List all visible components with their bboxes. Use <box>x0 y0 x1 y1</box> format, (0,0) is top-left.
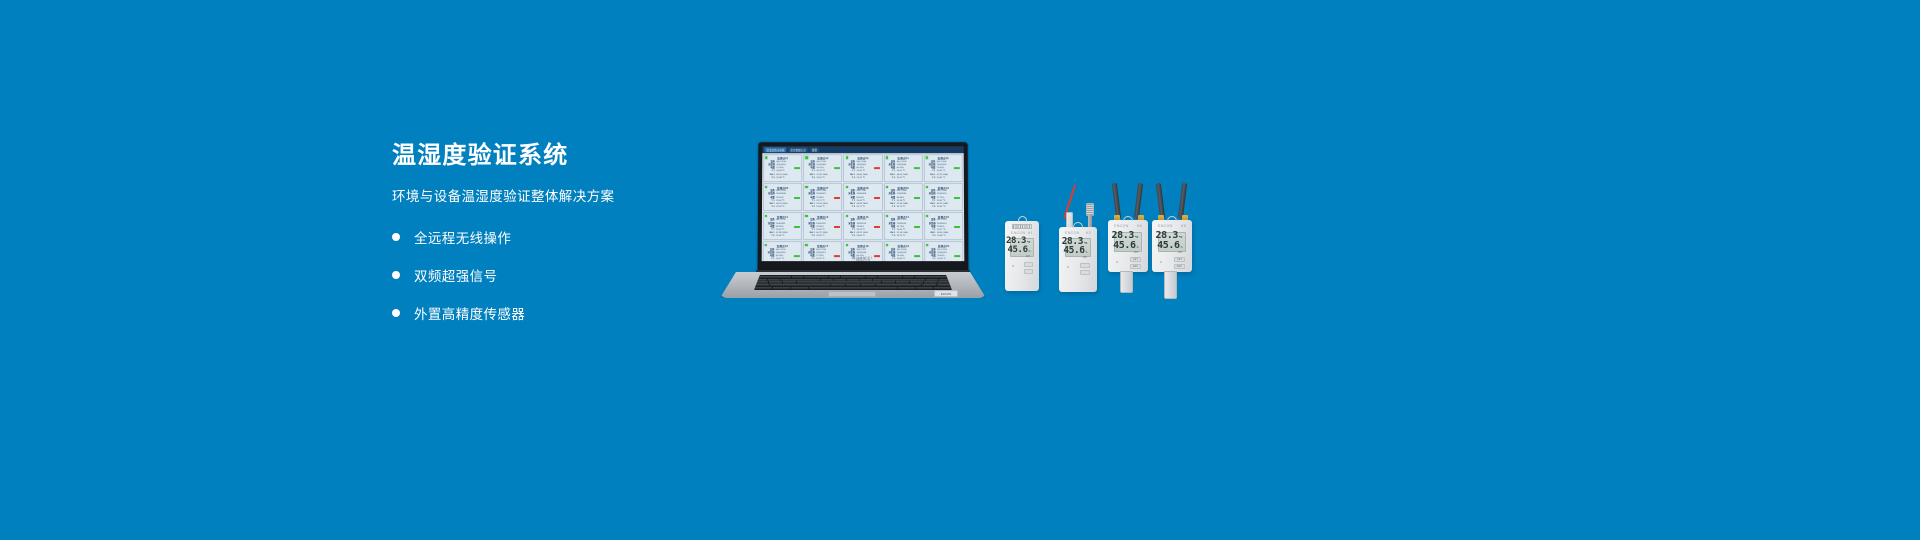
keyboard-key[interactable] <box>898 287 915 289</box>
card-title: 监测点03 <box>846 157 880 161</box>
card-title: 监测点09 <box>886 186 920 190</box>
keyboard-key[interactable] <box>773 287 790 289</box>
keyboard-key[interactable] <box>844 287 861 289</box>
temperature-unit: ℃ <box>1027 241 1030 244</box>
card-field-value: 23.88 ℃ <box>776 177 799 180</box>
keyboard-row <box>755 287 951 289</box>
monitoring-card[interactable]: 监测点04设备SN-77103采集器11002004电量81.00%T 123.… <box>884 154 923 182</box>
brand-left-label: ENCON <box>1065 231 1079 235</box>
card-status-pill <box>954 197 960 199</box>
card-status-pill <box>874 197 880 199</box>
card-field-key: T 2 <box>886 235 895 238</box>
card-field-value: 23.60 ℃ <box>856 235 880 238</box>
keyboard-key[interactable] <box>826 287 843 289</box>
card-title: 监测点04 <box>886 157 920 161</box>
card-field-row: T 223.88 ℃ <box>766 177 800 180</box>
monitoring-card[interactable]: 监测点01设备SN-77100采集器11002001电量77.00%T 123.… <box>763 154 802 182</box>
external-probe <box>1120 271 1133 293</box>
card-title: 监测点20 <box>927 244 961 248</box>
card-title: 监测点01 <box>766 157 800 161</box>
feature-label: 全远程无线操作 <box>414 227 511 247</box>
monitoring-card[interactable]: 监测点03设备SN-77102采集器11002003电量80.20%T 123.… <box>843 154 882 182</box>
card-status-pill <box>874 226 880 228</box>
card-status-led <box>846 215 848 217</box>
laptop-brand-logo: HUAWEI <box>762 256 965 260</box>
keyboard-key[interactable] <box>916 287 933 289</box>
laptop-bezel: 温湿度验证系统 历史数据记录 报警 监测点01设备SN-77100采集器1100… <box>762 146 965 261</box>
card-title: 监测点07 <box>806 186 840 190</box>
card-field-row: T 223.52 ℃ <box>886 177 920 180</box>
humidity-unit: % <box>1181 246 1182 249</box>
card-field-row: T 223.70 ℃ <box>846 177 880 180</box>
card-field-row: T 223.64 ℃ <box>806 206 840 209</box>
card-field-key: T 2 <box>846 235 855 238</box>
card-status-led <box>926 186 928 188</box>
hanger-loop-icon <box>1123 216 1133 221</box>
hanger-loop-icon <box>1018 216 1027 222</box>
banner-subtitle: 环境与设备温湿度验证整体解决方案 <box>392 185 722 205</box>
lcd-display: 28.3 ℃ 45.6 % RH <box>1114 232 1142 252</box>
laptop-sticker: ENCON <box>934 290 958 297</box>
list-item: 双频超强信号 <box>392 263 722 288</box>
hanger-loop-icon <box>1073 222 1083 228</box>
card-field-value: 23.64 ℃ <box>816 206 840 209</box>
antenna-right <box>1134 183 1143 219</box>
card-title: 监测点17 <box>806 244 840 248</box>
monitoring-card[interactable]: 监测点07设备SN-77106采集器11002007电量75.30%T 123.… <box>803 183 842 211</box>
card-status-led <box>806 157 808 159</box>
monitoring-card[interactable]: 监测点15设备SN-77114采集器11002015电量78.80%T 123.… <box>924 212 963 240</box>
humidity-unit: % <box>1029 250 1030 253</box>
card-status-pill <box>955 226 961 228</box>
hanger-loop-icon <box>1167 216 1177 221</box>
card-status-pill <box>954 167 960 169</box>
card-title: 监测点19 <box>886 244 920 248</box>
antenna-left <box>1156 183 1165 219</box>
card-field-row: T 223.59 ℃ <box>766 206 800 209</box>
brand-right-label: H8 <box>1137 224 1142 228</box>
humidity-label: RH <box>1026 255 1030 258</box>
card-status-led <box>805 215 807 217</box>
card-status-pill <box>914 226 920 228</box>
card-status-pill <box>834 167 840 169</box>
device-wireless-recorder-probe: ENCON H2 28.3 ℃ 45.6 % RH <box>1059 227 1097 292</box>
card-title: 监测点05 <box>926 157 960 161</box>
humidity-unit: % <box>1137 246 1138 249</box>
status-led <box>1012 265 1014 267</box>
card-field-row: T 223.55 ℃ <box>926 206 960 209</box>
tab-history[interactable]: 历史数据记录 <box>788 147 808 152</box>
monitoring-card[interactable]: 监测点05设备SN-77104采集器11002005电量79.40%T 123.… <box>924 154 963 182</box>
humidity-value: 45.6 <box>1157 241 1179 251</box>
card-status-led <box>926 157 928 159</box>
card-field-value: 23.61 ℃ <box>816 177 839 180</box>
keyboard-key[interactable] <box>755 287 772 289</box>
monitoring-card[interactable]: 监测点09设备SN-77108采集器11002009电量80.80%T 123.… <box>884 183 923 211</box>
card-field-row: T 223.60 ℃ <box>846 235 880 238</box>
device-brand-row: ENCON H8 <box>1152 224 1192 228</box>
software-screen: 温湿度验证系统 历史数据记录 报警 监测点01设备SN-77100采集器1100… <box>762 146 965 261</box>
temperature-value: 28.3 <box>1112 231 1134 241</box>
humidity-unit: % <box>1086 251 1087 254</box>
card-status-pill <box>834 226 840 228</box>
card-status-led <box>926 215 928 217</box>
card-field-value: 23.70 ℃ <box>897 206 921 209</box>
temperature-value: 28.3 <box>1156 231 1178 241</box>
card-status-led <box>846 157 848 159</box>
card-status-led <box>805 186 807 188</box>
card-status-pill <box>914 197 920 199</box>
status-led <box>1067 266 1069 268</box>
page-title: 温湿度验证系统 <box>392 142 722 171</box>
monitoring-card[interactable]: 监测点12设备SN-77111采集器11002012电量76.50%T 123.… <box>803 212 842 240</box>
card-status-led <box>886 244 888 246</box>
device-wireless-recorder-basic: ENCON H1 28.3 ℃ 45.6 % RH <box>1005 221 1039 291</box>
banner-copy: 温湿度验证系统 环境与设备温湿度验证整体解决方案 全远程无线操作 双频超强信号 … <box>392 142 722 327</box>
esc-button[interactable] <box>1024 269 1033 274</box>
temperature-unit: ℃ <box>1135 236 1138 239</box>
card-field-row: T 223.77 ℃ <box>846 206 880 209</box>
card-field-value: 23.66 ℃ <box>776 235 800 238</box>
monitoring-card[interactable]: 监测点10设备SN-77109采集器11002010电量77.70%T 123.… <box>924 183 963 211</box>
brand-right-label: H1 <box>1028 231 1033 235</box>
card-title: 监测点18 <box>846 244 880 248</box>
app-tab-bar: 温湿度验证系统 历史数据记录 报警 <box>762 146 963 153</box>
card-field-key: T 2 <box>926 235 935 238</box>
brand-left-label: ENCON <box>1158 224 1172 228</box>
card-status-pill <box>834 197 840 199</box>
card-status-pill <box>874 167 880 169</box>
feature-label: 双频超强信号 <box>414 265 497 285</box>
keyboard-key[interactable] <box>934 287 951 289</box>
card-title: 监测点08 <box>846 186 880 190</box>
card-status-pill <box>914 167 920 169</box>
status-led <box>1116 261 1118 263</box>
bullet-icon <box>392 309 400 317</box>
antenna-right <box>1178 183 1187 219</box>
device-brand-row: ENCON H8 <box>1108 224 1148 228</box>
card-title: 监测点06 <box>766 186 800 190</box>
card-field-key: T 2 <box>846 206 855 209</box>
card-field-row: T 223.61 ℃ <box>806 177 840 180</box>
card-field-key: T 2 <box>926 177 935 180</box>
esc-button[interactable]: ESC <box>1174 264 1185 269</box>
card-field-row: T 223.66 ℃ <box>765 235 799 238</box>
set-button[interactable]: SET <box>1174 257 1185 262</box>
keyboard-key[interactable] <box>809 287 826 289</box>
tab-monitoring[interactable]: 温湿度验证系统 <box>764 147 786 152</box>
bullet-icon <box>392 233 400 241</box>
card-field-key: T 2 <box>765 235 774 238</box>
card-field-value: 23.73 ℃ <box>897 235 921 238</box>
brand-right-label: H2 <box>1086 231 1091 235</box>
card-status-led <box>805 244 807 246</box>
card-status-pill <box>794 197 800 199</box>
card-status-led <box>886 215 888 217</box>
product-banner: 温湿度验证系统 环境与设备温湿度验证整体解决方案 全远程无线操作 双频超强信号 … <box>0 0 1920 540</box>
lcd-display: 28.3 ℃ 45.6 % RH <box>1010 238 1034 257</box>
card-field-row: T 223.81 ℃ <box>806 235 840 238</box>
card-field-key: T 2 <box>926 206 935 209</box>
esc-button[interactable]: ESC <box>1130 264 1141 269</box>
card-field-key: T 2 <box>766 177 775 180</box>
lcd-display: 28.3 ℃ 45.6 % RH <box>1065 238 1091 257</box>
feature-list: 全远程无线操作 双频超强信号 外置高精度传感器 <box>392 225 722 326</box>
set-button[interactable]: SET <box>1130 257 1141 262</box>
device-brand-row: ENCON H2 <box>1059 231 1097 235</box>
laptop-trackpad[interactable] <box>828 291 876 297</box>
card-field-value: 23.81 ℃ <box>816 235 840 238</box>
monitoring-card[interactable]: 监测点06设备SN-77105采集器11002006电量78.10%T 123.… <box>763 183 802 211</box>
card-title: 监测点02 <box>806 157 840 161</box>
humidity-reading: 45.6 % <box>1113 241 1138 251</box>
card-field-row: T 223.73 ℃ <box>886 235 920 238</box>
set-button[interactable] <box>1080 263 1090 268</box>
antenna-left <box>1112 183 1121 219</box>
brand-right-label: H8 <box>1181 224 1186 228</box>
tab-alarm[interactable]: 报警 <box>810 147 819 152</box>
set-button[interactable] <box>1024 262 1033 267</box>
feature-label: 外置高精度传感器 <box>414 303 525 323</box>
humidity-label: RH <box>1083 256 1087 259</box>
card-field-key: T 2 <box>846 177 855 180</box>
list-item: 全远程无线操作 <box>392 225 722 250</box>
card-field-row: T 223.80 ℃ <box>926 177 960 180</box>
card-field-key: T 2 <box>806 177 815 180</box>
status-led <box>1160 261 1162 263</box>
esc-button[interactable] <box>1080 270 1090 275</box>
monitoring-card[interactable]: 监测点13设备SN-77112采集器11002013电量79.90%T 123.… <box>843 212 882 240</box>
monitoring-card[interactable]: 监测点08设备SN-77107采集器11002008电量83.60%T 123.… <box>843 183 882 211</box>
card-field-key: T 2 <box>886 206 895 209</box>
card-field-value: 23.68 ℃ <box>937 235 961 238</box>
keyboard-key[interactable] <box>791 287 808 289</box>
humidity-value: 45.6 <box>1113 241 1135 251</box>
brand-left-label: ENCON <box>1114 224 1128 228</box>
laptop-product-image: 温湿度验证系统 历史数据记录 报警 监测点01设备SN-77100采集器1100… <box>720 142 986 298</box>
humidity-reading: 45.6 % <box>1157 241 1182 251</box>
card-field-value: 23.55 ℃ <box>937 206 961 209</box>
humidity-value: 45.6 <box>1008 246 1028 255</box>
monitoring-card[interactable]: 监测点14设备SN-77113采集器11002014电量81.70%T 123.… <box>884 212 923 240</box>
bullet-icon <box>392 271 400 279</box>
card-status-pill <box>794 167 800 169</box>
card-field-value: 23.52 ℃ <box>897 177 920 180</box>
card-field-key: T 2 <box>806 206 815 209</box>
temperature-reading: 28.3 ℃ <box>1156 231 1182 241</box>
keyboard-key[interactable] <box>880 287 897 289</box>
card-field-row: T 223.70 ℃ <box>886 206 920 209</box>
card-field-key: T 2 <box>886 177 895 180</box>
card-field-key: T 2 <box>806 235 815 238</box>
card-title: 监测点10 <box>926 186 960 190</box>
card-status-led <box>846 186 848 188</box>
card-title: 监测点16 <box>765 244 799 248</box>
humidity-value: 45.6 <box>1063 246 1084 256</box>
humidity-reading: 45.6 % <box>1063 246 1087 256</box>
card-status-led <box>886 157 888 159</box>
card-field-value: 23.77 ℃ <box>856 206 880 209</box>
card-field-value: 23.70 ℃ <box>856 177 879 180</box>
humidity-reading: 45.6 % <box>1008 246 1030 255</box>
device-brand-row: ENCON H1 <box>1005 231 1039 235</box>
card-field-value: 23.59 ℃ <box>776 206 800 209</box>
lcd-display: 28.3 ℃ 45.6 % RH <box>1158 232 1186 252</box>
card-status-pill <box>794 226 800 228</box>
humidity-label: RH <box>1178 251 1182 254</box>
monitoring-card-grid: 监测点01设备SN-77100采集器11002001电量77.00%T 123.… <box>762 153 965 261</box>
device-dual-antenna-recorder-2: ENCON H8 28.3 ℃ 45.6 % RH SET ESC <box>1152 220 1192 272</box>
card-field-key: T 2 <box>766 206 775 209</box>
humidity-label: RH <box>1134 251 1138 254</box>
monitoring-card[interactable]: 监测点11设备SN-77110采集器11002011电量82.40%T 123.… <box>763 212 802 240</box>
monitoring-card[interactable]: 监测点02设备SN-77101采集器11002002电量76.10%T 123.… <box>803 154 842 182</box>
temperature-unit: ℃ <box>1179 236 1182 239</box>
external-probe <box>1164 271 1177 299</box>
laptop-lid: 温湿度验证系统 历史数据记录 报警 监测点01设备SN-77100采集器1100… <box>758 142 969 272</box>
keyboard-key[interactable] <box>862 287 879 289</box>
card-field-row: T 223.68 ℃ <box>926 235 960 238</box>
list-item: 外置高精度传感器 <box>392 301 722 326</box>
brand-left-label: ENCON <box>1011 231 1025 235</box>
temperature-reading: 28.3 ℃ <box>1112 231 1138 241</box>
card-field-value: 23.80 ℃ <box>937 177 960 180</box>
vent-grille <box>1012 224 1032 229</box>
laptop-keyboard[interactable] <box>754 275 952 290</box>
device-dual-antenna-recorder-1: ENCON H8 28.3 ℃ 45.6 % RH SET ESC <box>1108 220 1148 272</box>
